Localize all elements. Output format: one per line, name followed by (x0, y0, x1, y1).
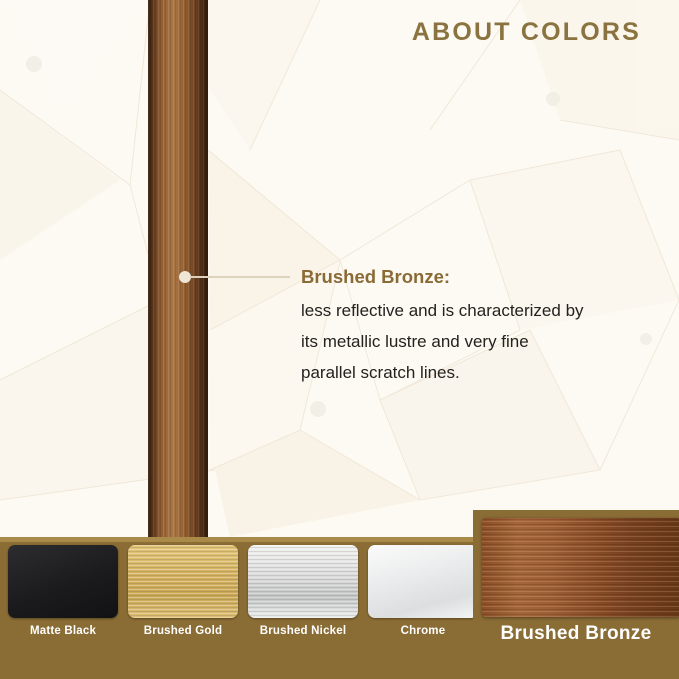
swatch-item-chrome[interactable]: Chrome (368, 545, 478, 637)
callout-heading: Brushed Bronze: (301, 263, 653, 290)
callout-body: less reflective and is characterized by … (301, 295, 653, 388)
product-sheen-overlay (148, 0, 208, 537)
callout-leader-line (190, 276, 290, 278)
callout-body-line-3: parallel scratch lines. (301, 357, 653, 388)
swatch-row: Matte Black Brushed Gold Brushed Nickel … (8, 545, 478, 637)
swatch-chip-chrome[interactable] (368, 545, 478, 618)
swatch-item-brushed-nickel[interactable]: Brushed Nickel (248, 545, 358, 637)
page-title: ABOUT COLORS (412, 18, 641, 47)
swatch-label-chrome: Chrome (368, 625, 478, 637)
swatch-item-matte-black[interactable]: Matte Black (8, 545, 118, 637)
swatch-item-brushed-gold[interactable]: Brushed Gold (128, 545, 238, 637)
callout-body-line-2: its metallic lustre and very fine (301, 326, 653, 357)
swatch-label-brushed-nickel: Brushed Nickel (248, 625, 358, 637)
swatch-chip-brushed-nickel[interactable] (248, 545, 358, 618)
about-colors-infographic: ABOUT COLORS Brushed Bronze: less reflec… (0, 0, 679, 679)
brush-texture (482, 518, 679, 617)
swatch-label-matte-black: Matte Black (8, 625, 118, 637)
featured-swatch-chip-brushed-bronze[interactable] (482, 518, 679, 617)
callout-text-block: Brushed Bronze: less reflective and is c… (301, 263, 653, 388)
swatch-chip-brushed-gold[interactable] (128, 545, 238, 618)
callout-body-line-1: less reflective and is characterized by (301, 295, 653, 326)
product-bar-brushed-bronze (148, 0, 208, 537)
swatch-label-brushed-gold: Brushed Gold (128, 625, 238, 637)
featured-swatch-label: Brushed Bronze (473, 623, 679, 645)
featured-swatch-panel[interactable]: Brushed Bronze (473, 510, 679, 679)
brush-texture (128, 545, 238, 618)
brush-texture (248, 545, 358, 618)
swatch-chip-matte-black[interactable] (8, 545, 118, 618)
